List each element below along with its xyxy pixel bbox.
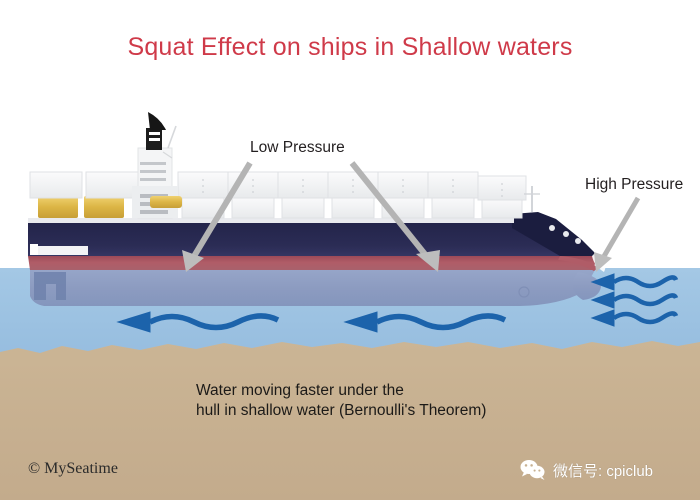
main-deck [28,218,514,223]
wechat-badge: 微信号: cpiclub [520,459,653,481]
hull-submerged [30,268,596,306]
bow-light-2 [563,231,569,237]
label-high-pressure: High Pressure [585,176,683,194]
caption-line-1: Water moving faster under the [196,381,486,401]
mast-antenna [168,126,176,148]
container-gold-2 [84,196,124,218]
credit-text: © MySeatime [28,460,118,478]
hull-dark-side [28,222,596,256]
container-gold-1 [38,196,78,218]
illustration-canvas: Squat Effect on ships in Shallow waters [0,0,700,500]
superstructure [132,112,182,218]
caption-block: Water moving faster under the hull in sh… [196,381,486,421]
hull-marking-plate [36,246,88,255]
container-white-a1 [30,172,82,198]
bow-light-1 [549,225,555,231]
bow-light-3 [575,238,581,244]
wechat-id-text: 微信号: cpiclub [553,460,653,481]
label-low-pressure: Low Pressure [250,139,345,157]
bow-wave-arrows [592,274,676,326]
deck-crane-cargo [150,196,182,208]
hull-marking-square [30,244,38,255]
caption-line-2: hull in shallow water (Bernoulli's Theor… [196,401,486,421]
funnel-sail-detail [148,112,166,130]
squat-effect-diagram [0,0,700,500]
hull-red-band [28,256,596,270]
container-white-a2 [86,172,138,198]
wechat-icon [520,459,546,481]
high-pressure-arrow [594,198,638,272]
container-stacks [30,172,526,218]
